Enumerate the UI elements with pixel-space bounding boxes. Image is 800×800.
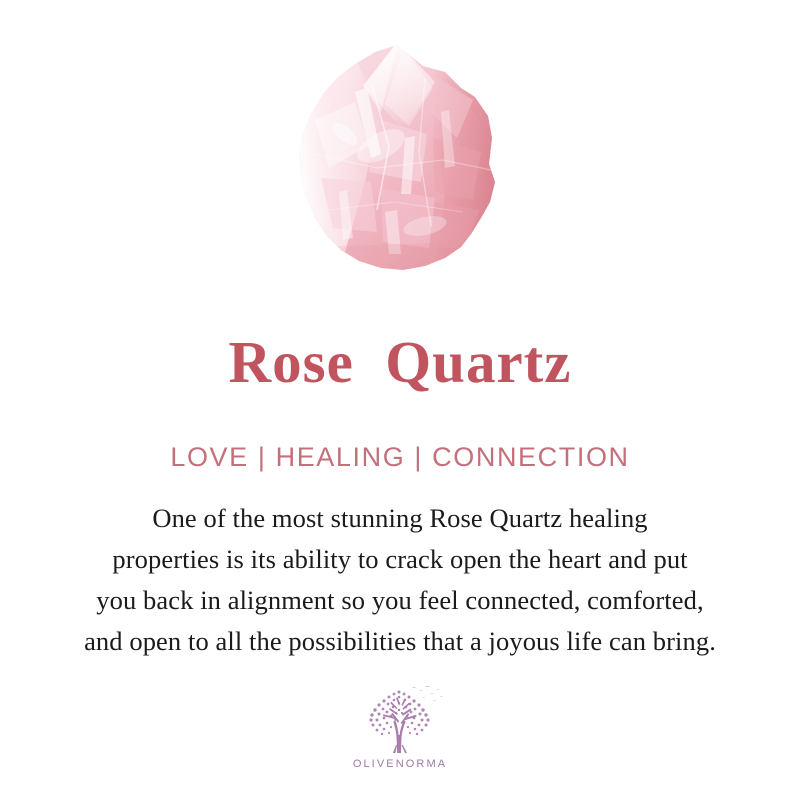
brand-name: OLIVENORMA <box>330 757 470 771</box>
description-line: One of the most stunning Rose Quartz hea… <box>22 498 778 539</box>
rose-quartz-crystal-photo <box>285 42 515 287</box>
page-title: Rose Quartz <box>0 332 800 394</box>
description-paragraph: One of the most stunning Rose Quartz hea… <box>22 498 778 662</box>
poster-canvas: Rose Quartz LOVE | HEALING | CONNECTION … <box>0 0 800 800</box>
brand-logo: OLIVENORMA <box>330 683 470 771</box>
rose-quartz-crystal-icon <box>285 42 515 287</box>
description-line: you back in alignment so you feel connec… <box>22 580 778 621</box>
keyword-subtitle: LOVE | HEALING | CONNECTION <box>0 443 800 473</box>
description-line: and open to all the possibilities that a… <box>22 621 778 662</box>
crystal-facets <box>285 42 515 287</box>
description-line: properties is its ability to crack open … <box>22 539 778 580</box>
tree-with-birds-icon <box>352 683 448 755</box>
hero-image-area <box>0 42 800 292</box>
